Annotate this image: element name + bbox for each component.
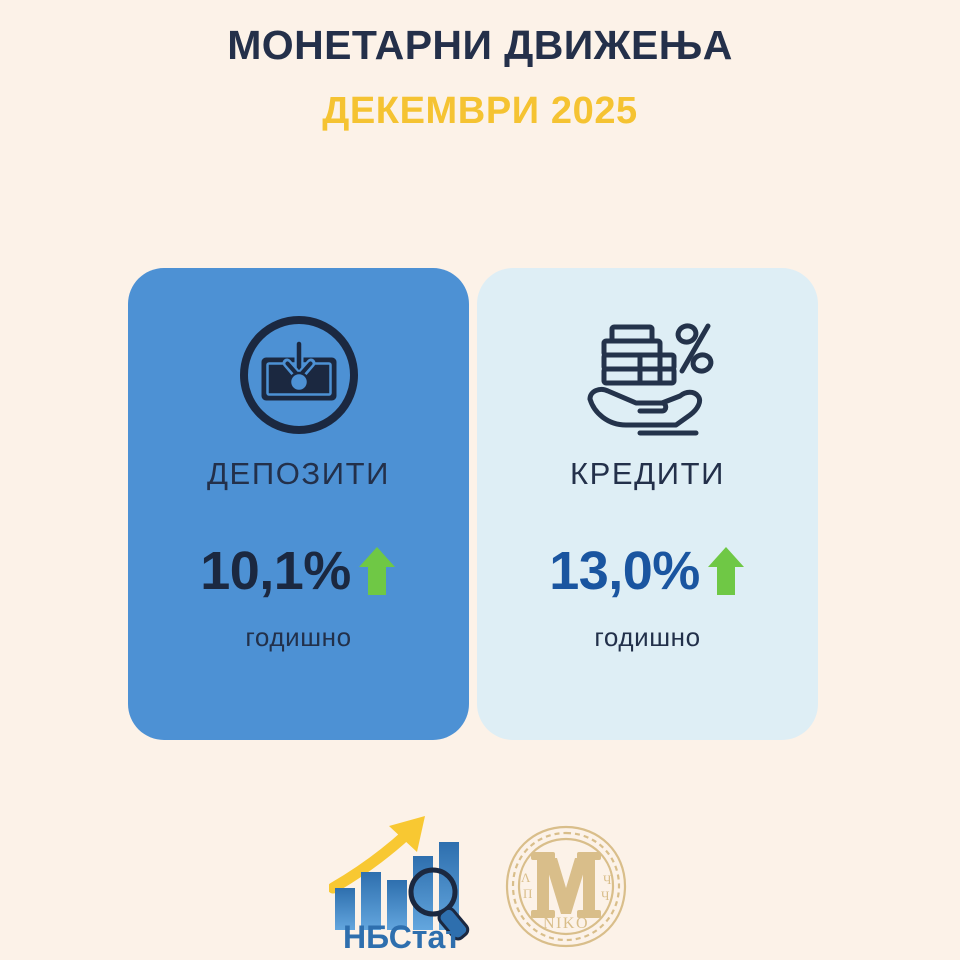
- page-subtitle-period: ДЕКЕМВРИ 2025: [0, 90, 960, 134]
- card-deposits[interactable]: ДЕПОЗИТИ 10,1% годишно: [128, 268, 469, 740]
- nbstat-logo: НБСтат: [329, 812, 479, 952]
- footer-logos: НБСтат Ʌ Π Ч Ч NIKO: [0, 812, 960, 952]
- card-label-deposits: ДЕПОЗИТИ: [207, 456, 390, 492]
- metric-cards-container: ДЕПОЗИТИ 10,1% годишно: [128, 268, 818, 740]
- card-value-row-credits: 13,0%: [549, 544, 746, 598]
- hand-coins-percent-icon: [578, 310, 718, 440]
- card-period-credits: годишно: [594, 622, 700, 653]
- card-period-deposits: годишно: [245, 622, 351, 653]
- card-value-deposits: 10,1%: [200, 544, 351, 598]
- card-value-row-deposits: 10,1%: [200, 544, 397, 598]
- national-bank-seal-logo: Ʌ Π Ч Ч NIKO: [501, 822, 631, 952]
- card-label-credits: КРЕДИТИ: [570, 456, 725, 492]
- banknote-deposit-icon: [235, 310, 363, 440]
- header: МОНЕТАРНИ ДВИЖЕЊА ДЕКЕМВРИ 2025: [0, 0, 960, 134]
- nbstat-wordmark: НБСтат: [343, 919, 461, 952]
- svg-text:Ʌ: Ʌ: [521, 870, 531, 885]
- arrow-up-icon: [706, 545, 746, 597]
- seal-text: NIKO: [543, 915, 589, 932]
- svg-text:Ч: Ч: [601, 888, 610, 903]
- card-value-credits: 13,0%: [549, 544, 700, 598]
- card-credits[interactable]: КРЕДИТИ 13,0% годишно: [477, 268, 818, 740]
- page-title: МОНЕТАРНИ ДВИЖЕЊА: [0, 22, 960, 69]
- svg-text:Π: Π: [523, 886, 532, 901]
- arrow-up-icon: [357, 545, 397, 597]
- svg-text:Ч: Ч: [603, 872, 612, 887]
